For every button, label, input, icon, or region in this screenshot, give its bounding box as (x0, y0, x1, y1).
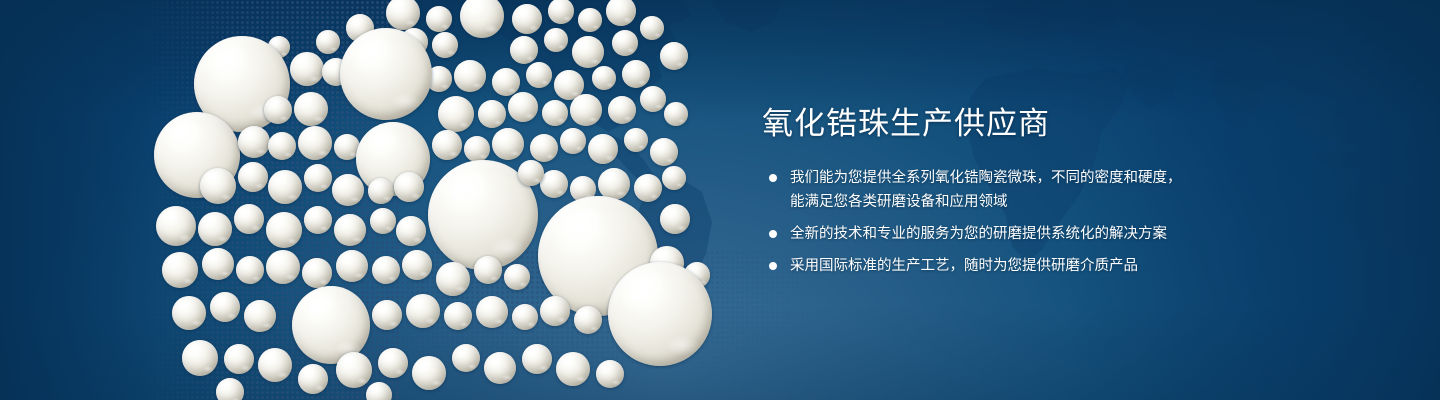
bullet-dot-icon (769, 174, 777, 182)
bead (660, 204, 690, 234)
bead (572, 36, 604, 68)
bead (290, 52, 324, 86)
bead (598, 168, 630, 200)
bead (588, 134, 618, 164)
bead (436, 262, 470, 296)
bead (198, 212, 232, 246)
bead (412, 356, 446, 390)
bead (304, 206, 332, 234)
bead (492, 128, 524, 160)
bead (156, 206, 196, 246)
bead (294, 92, 328, 126)
bead (560, 128, 586, 154)
bead (608, 262, 712, 366)
bead (474, 256, 502, 284)
bead (336, 352, 372, 388)
bead (612, 30, 638, 56)
bead (664, 102, 688, 126)
bead (302, 258, 332, 288)
bead (522, 344, 552, 374)
bead (406, 294, 440, 328)
bead (542, 100, 568, 126)
list-item-line: 我们能为您提供全系列氧化锆陶瓷微珠，不同的密度和硬度， (790, 166, 1322, 190)
bead (540, 296, 570, 326)
bead (578, 8, 602, 32)
bead (512, 4, 542, 34)
bead (438, 96, 474, 132)
hero-banner: 氧化锆珠生产供应商 我们能为您提供全系列氧化锆陶瓷微珠，不同的密度和硬度， 能满… (0, 0, 1440, 400)
bead (464, 136, 490, 162)
bead (238, 126, 270, 158)
bead (640, 16, 664, 40)
bead (238, 162, 268, 192)
bead (244, 300, 276, 332)
bead (340, 28, 432, 120)
bead (608, 96, 636, 124)
bead (596, 360, 624, 388)
bead (182, 340, 218, 376)
bead (336, 250, 368, 282)
bead (368, 178, 394, 204)
bead (510, 36, 538, 64)
list-item-line: 能满足您各类研磨设备和应用领域 (790, 190, 1322, 214)
bead (660, 42, 688, 70)
bead (624, 128, 648, 152)
banner-copy: 氧化锆珠生产供应商 我们能为您提供全系列氧化锆陶瓷微珠，不同的密度和硬度， 能满… (762, 104, 1322, 278)
bead (372, 256, 400, 284)
bead (512, 304, 538, 330)
bead (372, 300, 402, 330)
bead (518, 160, 544, 186)
bead (200, 168, 236, 204)
bead (298, 126, 332, 160)
bead (202, 248, 234, 280)
bead (548, 0, 574, 24)
bullet-dot-icon (769, 230, 777, 238)
bead (452, 344, 480, 372)
bead (574, 306, 602, 334)
bead (592, 66, 616, 90)
bead (484, 352, 516, 384)
bead (402, 250, 432, 280)
bead (544, 28, 568, 52)
bead (540, 170, 568, 198)
bead (394, 172, 424, 202)
bead (210, 292, 240, 322)
bead (662, 166, 686, 190)
bead (432, 130, 462, 160)
bead (492, 68, 520, 96)
bullet-dot-icon (769, 262, 777, 270)
bead (258, 348, 292, 382)
bead (556, 352, 590, 386)
list-item-line: 全新的技术和专业的服务为您的研磨提供系统化的解决方案 (790, 222, 1322, 246)
bead (264, 96, 292, 124)
page-title: 氧化锆珠生产供应商 (762, 104, 1322, 144)
bead (266, 212, 302, 248)
bead (268, 170, 302, 204)
bead (508, 92, 538, 122)
bead (370, 208, 396, 234)
bead (234, 204, 264, 234)
bead (172, 296, 206, 330)
bead (236, 256, 264, 284)
bead (650, 138, 678, 166)
bead (386, 0, 420, 30)
bead (298, 364, 328, 394)
bead (378, 348, 408, 378)
bead (526, 62, 552, 88)
zirconia-beads-photo (140, 0, 720, 400)
bead (570, 94, 602, 126)
bead (266, 250, 300, 284)
feature-list: 我们能为您提供全系列氧化锆陶瓷微珠，不同的密度和硬度， 能满足您各类研磨设备和应… (762, 166, 1322, 278)
bead (216, 378, 244, 400)
bead (316, 30, 340, 54)
list-item-line: 采用国际标准的生产工艺，随时为您提供研磨介质产品 (790, 254, 1322, 278)
bead (606, 0, 636, 26)
bead (460, 0, 504, 38)
bead (640, 86, 666, 112)
bead (476, 296, 508, 328)
bead (268, 132, 296, 160)
bead (162, 252, 198, 288)
bead (332, 174, 364, 206)
list-item: 全新的技术和专业的服务为您的研磨提供系统化的解决方案 (762, 222, 1322, 246)
list-item: 我们能为您提供全系列氧化锆陶瓷微珠，不同的密度和硬度， 能满足您各类研磨设备和应… (762, 166, 1322, 214)
bead (334, 214, 366, 246)
bead (504, 264, 530, 290)
bead (454, 60, 486, 92)
bead (304, 164, 332, 192)
bead (478, 100, 506, 128)
bead (224, 344, 254, 374)
bead (426, 6, 452, 32)
bead (432, 32, 458, 58)
bead (622, 60, 650, 88)
list-item: 采用国际标准的生产工艺，随时为您提供研磨介质产品 (762, 254, 1322, 278)
bead (444, 302, 472, 330)
bead (634, 174, 662, 202)
bead (396, 216, 426, 246)
bead (530, 134, 558, 162)
